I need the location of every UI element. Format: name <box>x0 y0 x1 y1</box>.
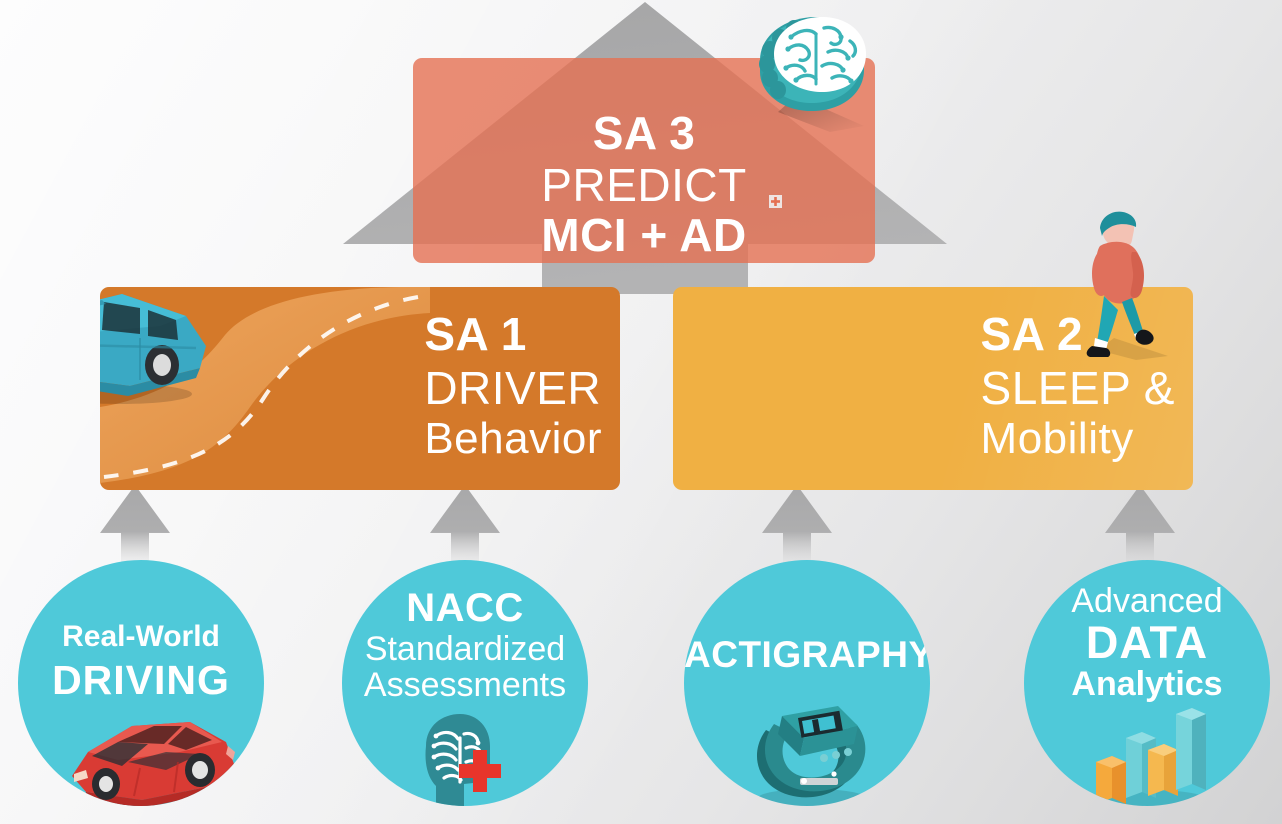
sa1-tag: SA 1 <box>254 311 602 357</box>
arrow-actigraphy-to-sa2 <box>762 485 832 565</box>
infographic-canvas: SA 3 PREDICT MCI + AD <box>0 0 1282 824</box>
input-circle-real-world-driving[interactable]: Real-World DRIVING <box>18 560 264 806</box>
sa2-line1: SLEEP & <box>841 365 1175 411</box>
aim-card-sa2[interactable]: SA 2 SLEEP & Mobility <box>673 287 1193 490</box>
driving-line-2: DRIVING <box>18 660 264 701</box>
medical-cross-icon <box>459 750 501 792</box>
sa2-text-block: SA 2 SLEEP & Mobility <box>841 311 1175 461</box>
actigraphy-label: ACTIGRAPHY <box>684 636 930 673</box>
input-circle-nacc[interactable]: NACC Standardized Assessments <box>342 560 588 806</box>
nacc-line-1: NACC <box>342 588 588 628</box>
sa1-line1: DRIVER <box>254 365 602 411</box>
sa3-line2: MCI + AD <box>413 212 875 258</box>
nacc-line-3: Assessments <box>342 668 588 702</box>
analytics-line-3: Analytics <box>1024 667 1270 701</box>
arrow-analytics-to-sa2 <box>1105 485 1175 565</box>
driving-line-1: Real-World <box>18 622 264 652</box>
input-circle-data-analytics[interactable]: Advanced DATA Analytics <box>1024 560 1270 806</box>
smartwatch-icon <box>740 700 880 806</box>
analytics-line-1: Advanced <box>1024 584 1270 618</box>
input-circle-actigraphy[interactable]: ACTIGRAPHY <box>684 560 930 806</box>
arrow-driving-to-sa1 <box>100 485 170 565</box>
sa1-line2: Behavior <box>254 417 602 461</box>
aim-card-sa1[interactable]: SA 1 DRIVER Behavior <box>100 287 620 490</box>
sa2-tag: SA 2 <box>841 311 1175 357</box>
aim-card-sa3[interactable]: SA 3 PREDICT MCI + AD <box>413 58 875 263</box>
red-car-icon <box>62 712 247 806</box>
sa1-text-block: SA 1 DRIVER Behavior <box>254 311 602 461</box>
analytics-line-2: DATA <box>1024 620 1270 665</box>
head-brain-medical-cross-icon <box>414 712 524 806</box>
sa2-line2: Mobility <box>841 417 1175 461</box>
sa3-line1: PREDICT <box>413 162 875 208</box>
nacc-line-2: Standardized <box>342 632 588 666</box>
sa3-text-block: SA 3 PREDICT MCI + AD <box>413 110 875 258</box>
bar-chart-icon <box>1086 700 1216 806</box>
sa3-tag: SA 3 <box>413 110 875 156</box>
arrow-nacc-to-sa1 <box>430 485 500 565</box>
